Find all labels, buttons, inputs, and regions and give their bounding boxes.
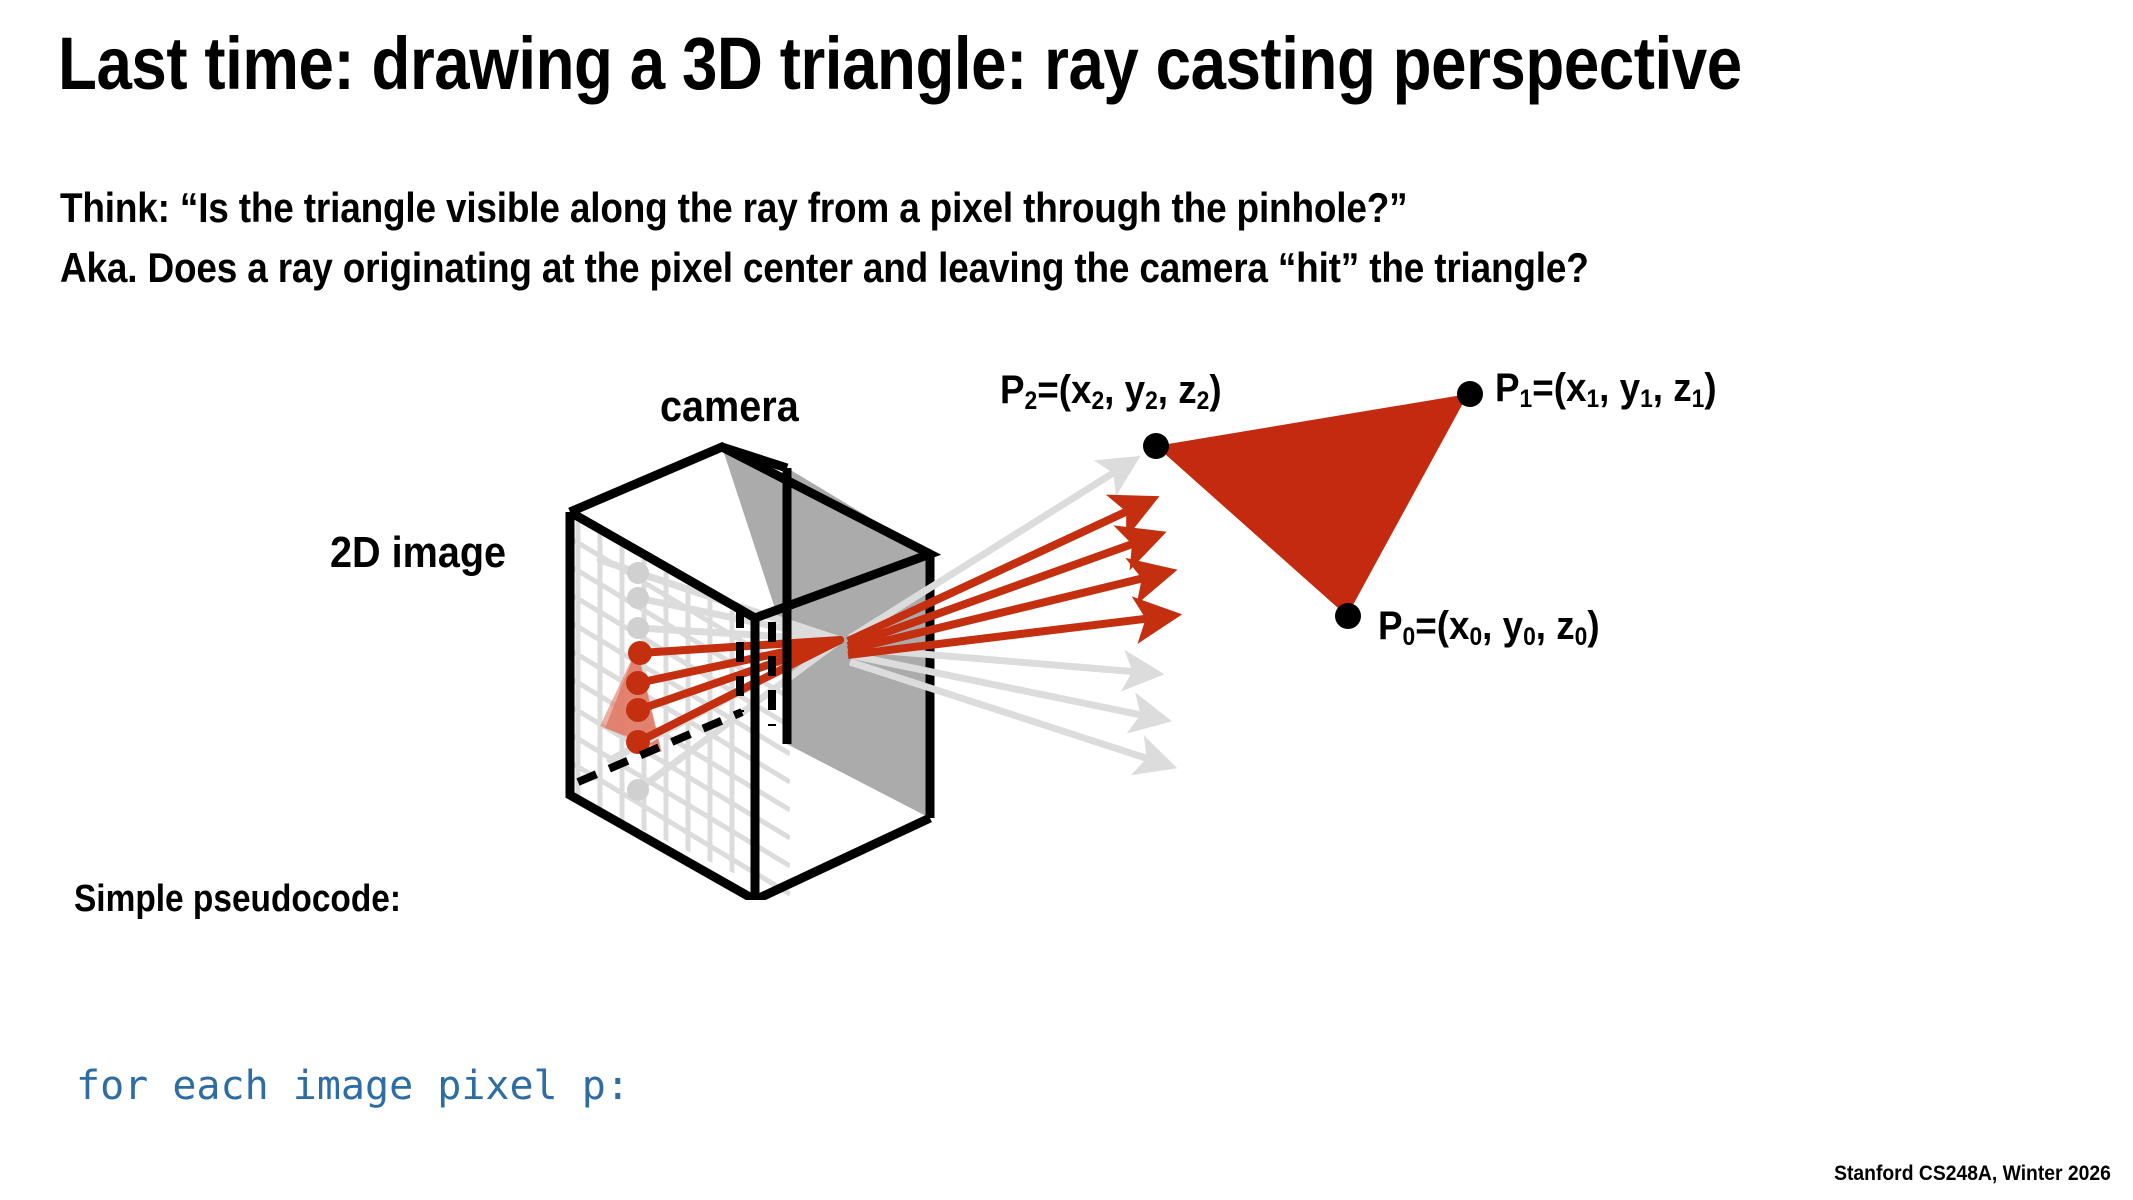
- camera-label: camera: [660, 382, 799, 432]
- vertex-dot-p0: [1335, 603, 1361, 629]
- image-plane-label: 2D image: [330, 528, 506, 578]
- pseudocode-heading: Simple pseudocode:: [74, 878, 401, 921]
- vertex-dot-p2: [1143, 433, 1169, 459]
- ray-casting-diagram: camera 2D image P2=(x2, y2, z2) P1=(x1, …: [0, 0, 2133, 560]
- pseudocode-block: for each image pixel p: let r = ray from…: [76, 953, 1976, 1200]
- vertex-dot-p1: [1457, 381, 1483, 407]
- vertex-label-p0: P0=(x0, y0, z0): [1378, 604, 1600, 649]
- diagram-canvas: [0, 0, 2133, 900]
- vertex-label-p0-text: P0=(x0, y0, z0): [1378, 604, 1600, 648]
- vertex-label-p1-text: P1=(x1, y1, z1): [1495, 366, 1717, 410]
- code-line-0: for each image pixel p:: [76, 1060, 1976, 1114]
- vertex-label-p2-text: P2=(x2, y2, z2): [1000, 368, 1222, 412]
- vertex-label-p2: P2=(x2, y2, z2): [1000, 368, 1222, 413]
- vertex-label-p1: P1=(x1, y1, z1): [1495, 366, 1717, 411]
- scene-triangle: [1156, 394, 1468, 616]
- slide-footer: Stanford CS248A, Winter 2026: [1834, 1162, 2111, 1186]
- slide-root: Last time: drawing a 3D triangle: ray ca…: [0, 0, 2133, 1200]
